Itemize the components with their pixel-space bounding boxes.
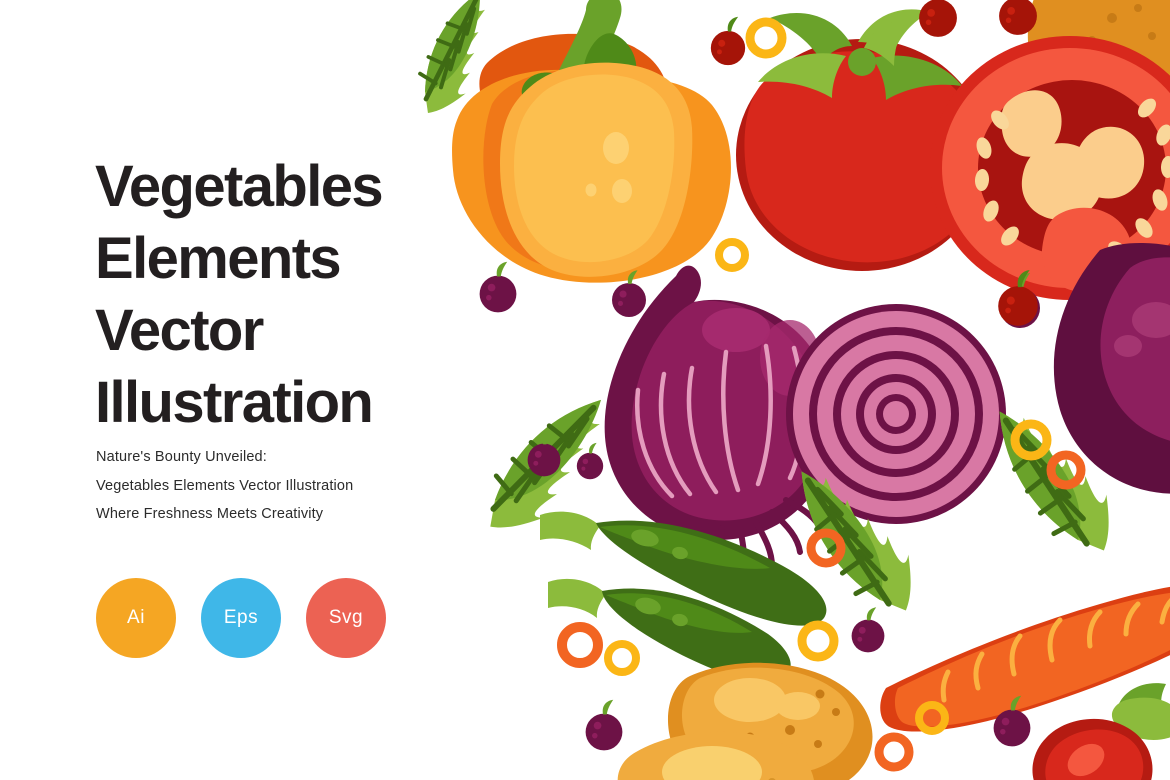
format-badge-svg[interactable]: Svg <box>306 578 386 658</box>
format-badge-ai[interactable]: Ai <box>96 578 176 658</box>
subtitle-line-3: Where Freshness Meets Creativity <box>96 500 456 529</box>
poster-canvas: Vegetables Elements Vector Illustration … <box>0 0 1170 780</box>
subtitle-line-1: Nature's Bounty Unveiled: <box>96 443 456 472</box>
berry-4 <box>577 443 603 479</box>
subtitle-line-2: Vegetables Elements Vector Illustration <box>96 472 456 501</box>
format-badge-eps[interactable]: Eps <box>201 578 281 658</box>
berry-6 <box>852 607 885 652</box>
text-panel: Vegetables Elements Vector Illustration … <box>0 0 470 780</box>
cherry-2 <box>919 0 957 37</box>
subtitle-block: Nature's Bounty Unveiled: Vegetables Ele… <box>96 443 456 529</box>
berry-1 <box>480 262 517 313</box>
bell-pepper <box>452 0 731 283</box>
berry-5 <box>586 700 623 751</box>
cherry-1 <box>711 17 745 65</box>
page-title: Vegetables Elements Vector Illustration <box>95 151 465 439</box>
format-badges: Ai Eps Svg <box>96 578 386 658</box>
